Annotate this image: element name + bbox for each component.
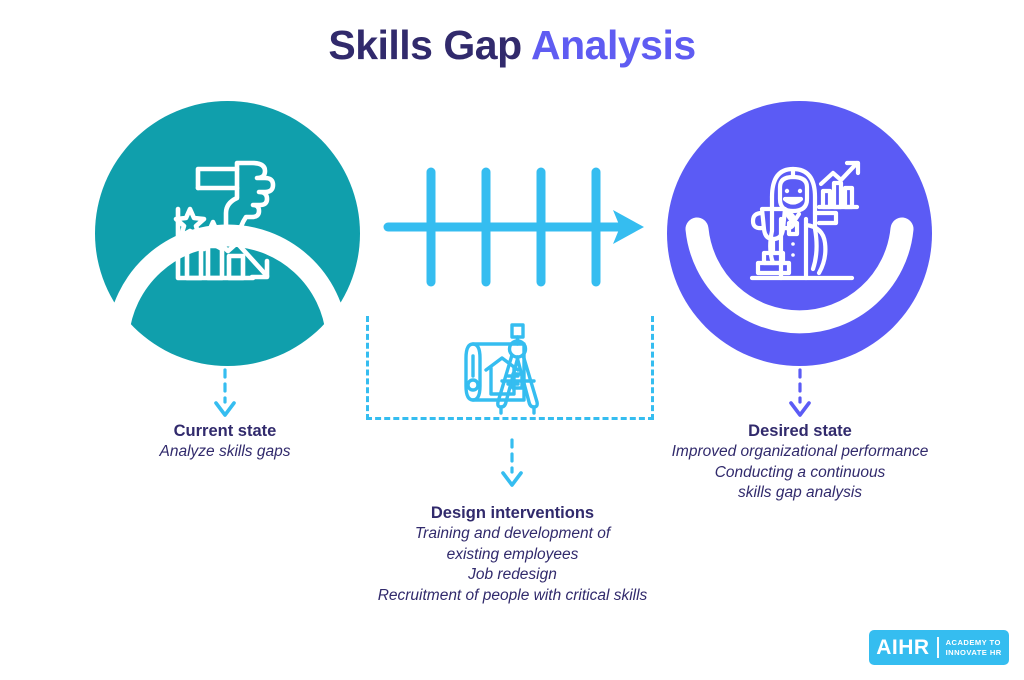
design-interventions-line-2: existing employees [340, 545, 685, 566]
design-interventions-line-4: Recruitment of people with critical skil… [340, 586, 685, 607]
current-state-circle [95, 101, 360, 366]
infographic-canvas: Skills Gap Analysis [0, 0, 1024, 680]
woman-trophy-growth-chart-icon [752, 163, 858, 278]
desired-state-circle-graphic [667, 101, 932, 366]
page-title: Skills Gap Analysis [0, 22, 1024, 69]
desired-state-heading: Desired state [640, 421, 960, 442]
design-interventions-caption: Design interventions Training and develo… [340, 503, 685, 606]
current-state-heading: Current state [75, 421, 375, 442]
fishbone-arrow-icon [376, 158, 648, 298]
aihr-logo-wordmark: AIHR [876, 637, 929, 658]
current-state-connector [211, 368, 239, 420]
current-state-line-1: Analyze skills gaps [75, 442, 375, 463]
aihr-logo-divider [937, 637, 939, 658]
desired-state-connector [786, 368, 814, 420]
design-interventions-line-3: Job redesign [340, 565, 685, 586]
thumbs-down-declining-chart-icon [176, 163, 273, 278]
aihr-logo-tagline: ACADEMY TO INNOVATE HR [946, 638, 1002, 657]
aihr-logo-tagline-line-1: ACADEMY TO [946, 638, 1002, 648]
design-interventions-heading: Design interventions [340, 503, 685, 524]
current-state-description: Analyze skills gaps [75, 442, 375, 463]
page-title-primary: Skills Gap [328, 22, 521, 68]
smile-arc-icon [697, 229, 902, 322]
current-state-circle-graphic [95, 101, 360, 366]
aihr-logo-tagline-line-2: INNOVATE HR [946, 648, 1002, 658]
desired-state-caption: Desired state Improved organizational pe… [640, 421, 960, 504]
aihr-logo: AIHR ACADEMY TO INNOVATE HR [869, 630, 1009, 665]
desired-state-line-2: Conducting a continuous [640, 463, 960, 484]
desired-state-circle [667, 101, 932, 366]
desired-state-line-3: skills gap analysis [640, 483, 960, 504]
desired-state-line-1: Improved organizational performance [640, 442, 960, 463]
current-state-caption: Current state Analyze skills gaps [75, 421, 375, 463]
blueprint-compass-icon [462, 318, 562, 418]
design-interventions-connector [498, 438, 526, 490]
design-interventions-line-1: Training and development of [340, 524, 685, 545]
page-title-accent: Analysis [522, 22, 696, 68]
desired-state-description: Improved organizational performance Cond… [640, 442, 960, 504]
design-interventions-description: Training and development of existing emp… [340, 524, 685, 606]
